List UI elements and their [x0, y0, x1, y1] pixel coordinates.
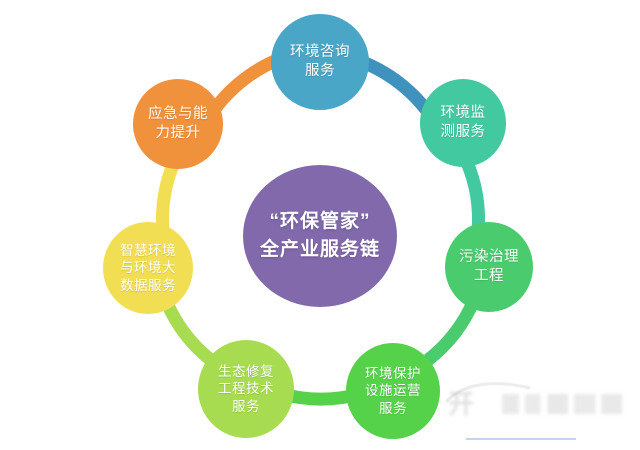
node-label: 应急与能 力提升 [144, 105, 212, 142]
node-smart-environment-big-data[interactable]: 智慧环境 与环境大 数据服务 [103, 222, 193, 314]
node-pollution-control-engineering[interactable]: 污染治理 工程 [445, 222, 533, 312]
node-environmental-consulting[interactable]: 环境咨询 服务 [271, 14, 369, 110]
node-label: 环境咨询 服务 [286, 43, 354, 80]
center-hub[interactable]: “环保管家” 全产业服务链 [243, 165, 397, 307]
node-emergency-and-capacity-building[interactable]: 应急与能 力提升 [133, 79, 223, 169]
ring-segment-green [428, 300, 474, 360]
center-hub-line2: 全产业服务链 [260, 236, 380, 264]
bottom-rule [466, 438, 576, 440]
node-environmental-monitoring[interactable]: 环境监 测服务 [420, 79, 506, 167]
node-label: 智慧环境 与环境大 数据服务 [116, 242, 180, 294]
node-ecological-restoration-engineering[interactable]: 生态修复 工程技术 服务 [198, 340, 294, 438]
node-env-protection-facility-operation[interactable]: 环境保护 设施运营 服务 [346, 343, 440, 439]
node-label: 环境监 测服务 [437, 104, 490, 141]
ring-segment-lime [167, 303, 212, 361]
node-label: 污染治理 工程 [455, 248, 523, 285]
center-hub-line1: “环保管家” [269, 208, 370, 236]
node-label: 环境保护 设施运营 服务 [361, 365, 425, 417]
diagram-canvas: 环境咨询 服务 环境监 测服务 污染治理 工程 环境保护 设施运营 服务 生态修… [0, 0, 640, 450]
node-label: 生态修复 工程技术 服务 [214, 363, 278, 415]
ring-segment-yellow [162, 160, 175, 232]
ring-segment-teal [466, 160, 479, 232]
